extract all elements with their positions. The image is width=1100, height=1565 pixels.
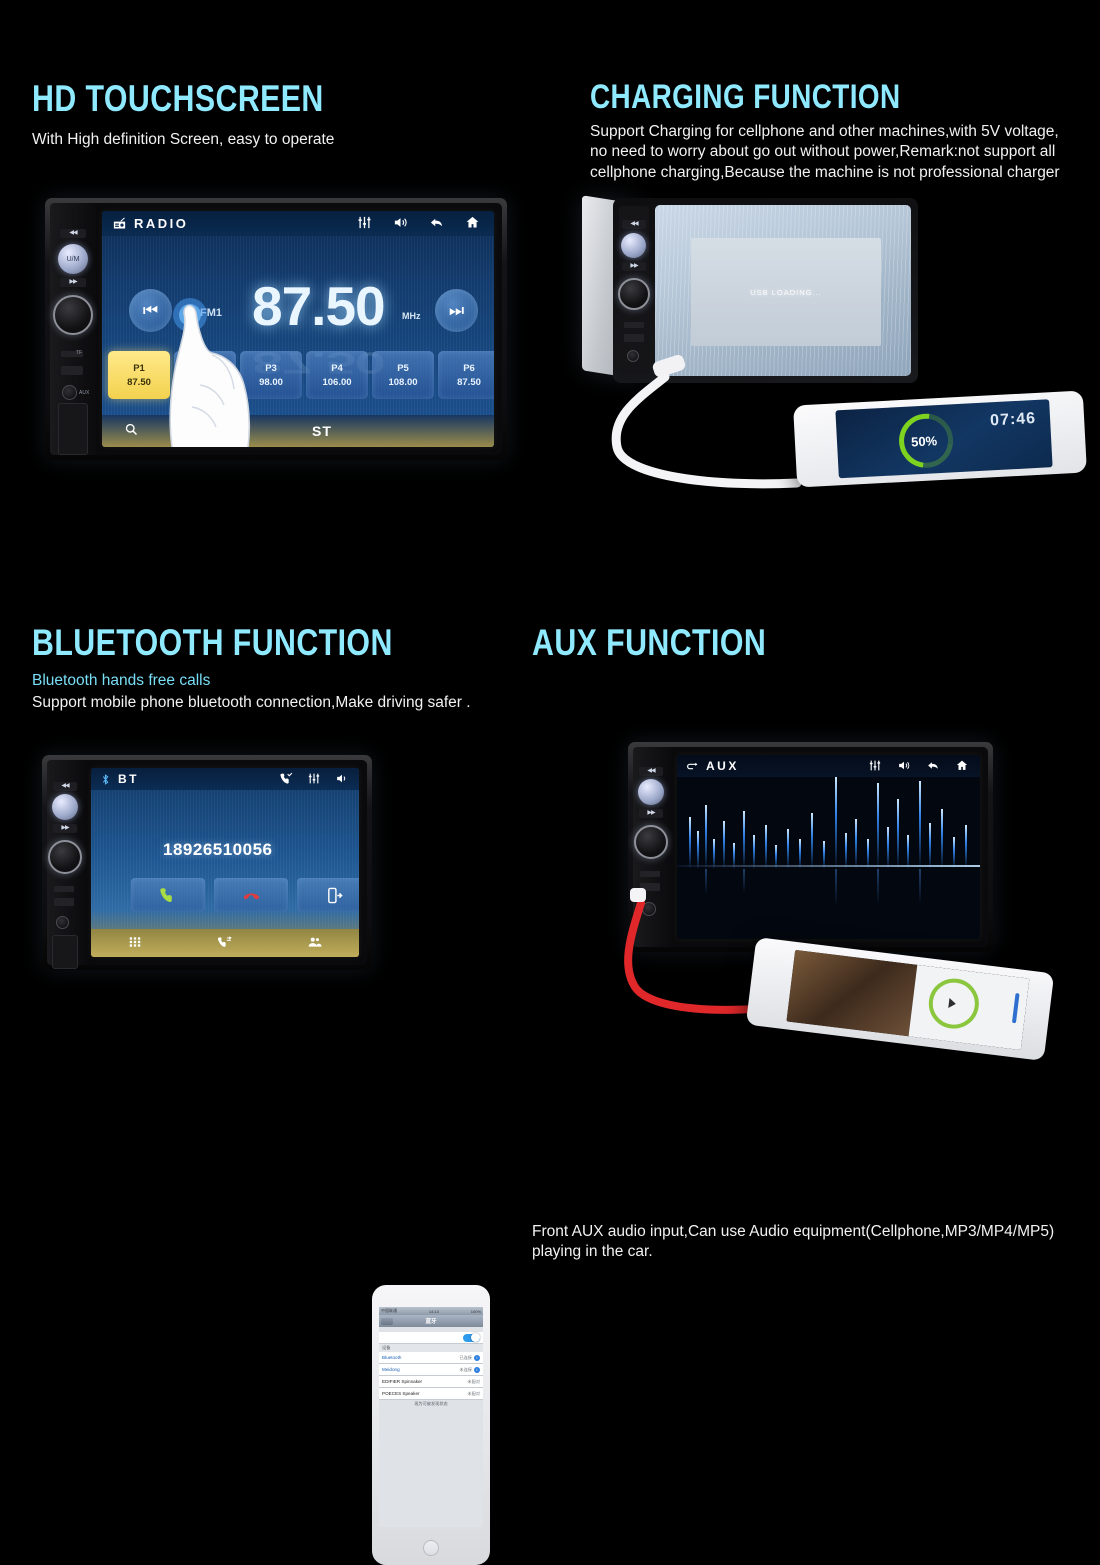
bluetooth-toggle-label: 蓝牙 xyxy=(382,1335,391,1341)
device-status-2: 未连接 xyxy=(459,1367,472,1373)
equalizer-icon[interactable] xyxy=(356,215,373,232)
device-row-3[interactable]: EDIFIER Spinnaker 未配对 xyxy=(379,1376,483,1388)
aux-topbar: AUX xyxy=(677,755,980,777)
bt-aux-jack[interactable] xyxy=(56,916,69,929)
aux-tf-slot[interactable] xyxy=(640,871,660,877)
radio-topbar: RADIO xyxy=(102,211,494,236)
body-aux-function: Front AUX audio input,Can use Audio equi… xyxy=(532,1222,1092,1263)
device-info-icon-2[interactable]: i xyxy=(474,1367,480,1373)
home-icon[interactable] xyxy=(464,215,481,232)
radio-bottom-bar: ST xyxy=(102,415,494,447)
preset-row: P1 87.50 P2 90.00 P3 98.00 xyxy=(108,351,494,399)
bt-next-button[interactable]: ▶▶ xyxy=(53,824,77,833)
panel-aux-function: AUX FUNCTION Front AUX audio input,Can u… xyxy=(520,550,1100,1100)
charging-unit-screen[interactable]: USB LOADING... xyxy=(655,205,911,376)
charging-next-button[interactable]: ▶▶ xyxy=(622,262,646,271)
bt-tf-slot[interactable] xyxy=(54,886,74,892)
heading-bluetooth-function: BLUETOOTH FUNCTION xyxy=(32,622,393,664)
usb-loading-text: USB LOADING... xyxy=(750,288,822,297)
stereo-indicator: ST xyxy=(312,423,332,439)
bluetooth-icon xyxy=(99,773,112,786)
aux-line-2: playing in the car. xyxy=(532,1242,1092,1262)
device-name-2: Meidong xyxy=(382,1367,400,1372)
aux-prev-button[interactable]: ◀◀ xyxy=(639,767,663,776)
aux-phone-screen xyxy=(786,950,1029,1050)
charging-phone: 50% 07:46 xyxy=(793,390,1087,487)
volume-icon[interactable] xyxy=(392,215,409,232)
source-label: RADIO xyxy=(134,216,188,231)
frequency-unit: MHz xyxy=(402,311,421,321)
product-feature-collage: HD TOUCHSCREEN With High definition Scre… xyxy=(0,0,1100,1100)
device-status-3: 未配对 xyxy=(467,1379,480,1385)
charging-line-3: cellphone charging,Because the machine i… xyxy=(590,163,1060,183)
panel-hd-touchscreen: HD TOUCHSCREEN With High definition Scre… xyxy=(0,0,555,550)
ios-nav-title: 蓝牙 xyxy=(425,1317,436,1325)
device-name-1: Bluetooth xyxy=(382,1355,401,1360)
player-controls xyxy=(908,965,1029,1050)
transfer-audio-button[interactable] xyxy=(297,878,359,912)
bt-equalizer-icon[interactable] xyxy=(307,772,321,787)
phone-bluetooth-settings: 中国联通 14:13 100% 蓝牙 蓝牙 设备 Bluetooth 已连接i xyxy=(372,1285,490,1565)
aux-source-label: AUX xyxy=(706,759,739,773)
call-log-icon[interactable] xyxy=(217,935,232,952)
preset-button-5[interactable]: P5 108.00 xyxy=(372,351,434,399)
battery-label: 100% xyxy=(471,1309,481,1314)
panel-bluetooth-function: BLUETOOTH FUNCTION Bluetooth hands free … xyxy=(0,550,520,1100)
ios-status-bar: 中国联通 14:13 100% xyxy=(379,1307,483,1315)
panel-charging-function: CHARGING FUNCTION Support Charging for c… xyxy=(555,0,1100,550)
bt-topbar: BT xyxy=(91,768,359,790)
ios-back-button[interactable] xyxy=(381,1318,393,1325)
bluetooth-toggle-row[interactable]: 蓝牙 xyxy=(379,1332,483,1344)
charging-aux-jack[interactable] xyxy=(627,350,639,362)
next-track-button[interactable]: ▶▶ xyxy=(60,278,86,287)
charging-prev-button[interactable]: ◀◀ xyxy=(622,220,646,229)
device-name-4: POECES Speaker xyxy=(382,1391,420,1396)
seek-up-button[interactable]: ⏭ xyxy=(435,289,478,332)
device-info-icon-1[interactable]: i xyxy=(474,1355,480,1361)
antenna-icon[interactable] xyxy=(221,422,236,440)
charging-usb-port[interactable] xyxy=(624,334,644,342)
discoverable-note: 现为可被发现状态 xyxy=(379,1400,483,1408)
usb-loading-window: USB LOADING... xyxy=(691,238,881,346)
play-icon[interactable] xyxy=(948,998,956,1009)
bt-volume-icon[interactable] xyxy=(335,772,349,787)
devices-group-label: 设备 xyxy=(379,1344,483,1352)
device-status-4: 未配对 xyxy=(467,1391,480,1397)
aux-volume-icon[interactable] xyxy=(897,759,911,774)
iphone-home-button[interactable] xyxy=(423,1540,439,1556)
heading-aux-function: AUX FUNCTION xyxy=(532,622,766,664)
side-control-column: ◀◀ U/M ▶▶ TF AUX xyxy=(50,203,96,455)
answer-call-button[interactable] xyxy=(131,878,205,912)
subtitle-hd-touchscreen: With High definition Screen, easy to ope… xyxy=(32,130,334,150)
aux-plug-head xyxy=(630,888,646,902)
subtitle-bluetooth-cyan: Bluetooth hands free calls xyxy=(32,670,210,692)
bt-volume-knob[interactable] xyxy=(48,840,82,874)
aux-equalizer-icon[interactable] xyxy=(868,759,882,774)
head-unit-charging: ◀◀ ▶▶ USB LOADING... xyxy=(613,198,918,383)
charging-unit-controls: ◀◀ ▶▶ xyxy=(619,206,649,375)
aux-next-button[interactable]: ▶▶ xyxy=(639,809,663,818)
preset-button-2[interactable]: P2 90.00 xyxy=(174,351,236,399)
aux-volume-knob[interactable] xyxy=(634,825,668,859)
search-icon[interactable] xyxy=(124,422,139,440)
aux-power-button[interactable] xyxy=(638,779,664,805)
back-icon[interactable] xyxy=(428,215,445,232)
bt-bottom-bar xyxy=(91,929,359,957)
end-call-button[interactable] xyxy=(214,878,288,912)
charging-power-button[interactable] xyxy=(621,233,646,258)
end-call-icon xyxy=(242,886,261,905)
heading-hd-touchscreen: HD TOUCHSCREEN xyxy=(32,78,324,120)
keypad-icon[interactable] xyxy=(128,935,142,952)
preset-button-4[interactable]: P4 106.00 xyxy=(306,351,368,399)
aux-icon xyxy=(685,760,700,773)
charging-line-2: no need to worry about go out without po… xyxy=(590,142,1060,162)
head-unit-radio: ◀◀ U/M ▶▶ TF AUX xyxy=(45,198,507,460)
aux-home-icon[interactable] xyxy=(955,759,969,774)
head-unit-bluetooth: ◀◀ ▶▶ B xyxy=(42,755,372,970)
radio-screen[interactable]: RADIO xyxy=(102,211,494,447)
radio-icon xyxy=(111,216,128,231)
answer-call-icon xyxy=(159,886,177,904)
tf-slot-label: TF xyxy=(76,350,82,356)
usb-port[interactable] xyxy=(61,366,83,375)
charging-volume-knob[interactable] xyxy=(618,278,650,310)
subtitle-bluetooth-white: Support mobile phone bluetooth connectio… xyxy=(32,693,471,713)
bt-screen-bezel: BT xyxy=(87,764,363,961)
aux-back-icon[interactable] xyxy=(926,759,940,774)
aux-phone xyxy=(746,937,1054,1061)
charging-phone-screen: 50% 07:46 xyxy=(835,399,1052,478)
charging-tf-slot[interactable] xyxy=(624,322,644,328)
heading-charging-function: CHARGING FUNCTION xyxy=(590,78,901,117)
preset-button-3[interactable]: P3 98.00 xyxy=(240,351,302,399)
carrier-label: 中国联通 xyxy=(381,1308,397,1314)
aux-line-1: Front AUX audio input,Can use Audio equi… xyxy=(532,1222,1092,1242)
transfer-audio-icon xyxy=(326,887,343,904)
phone-screen[interactable]: 中国联通 14:13 100% 蓝牙 蓝牙 设备 Bluetooth 已连接i xyxy=(379,1307,483,1527)
album-artwork xyxy=(786,950,917,1036)
ios-clock: 14:13 xyxy=(429,1309,439,1314)
band-label: FM1 xyxy=(200,307,222,319)
bt-source-label: BT xyxy=(118,772,139,786)
volume-knob[interactable] xyxy=(53,295,93,335)
device-row-4[interactable]: POECES Speaker 未配对 xyxy=(379,1388,483,1400)
usb-drive xyxy=(58,403,88,455)
bt-prev-button[interactable]: ◀◀ xyxy=(53,782,77,791)
incoming-phone-number: 18926510056 xyxy=(163,840,273,860)
charging-line-1: Support Charging for cellphone and other… xyxy=(590,122,1060,142)
bt-usb-drive xyxy=(52,935,78,969)
bt-usb-port[interactable] xyxy=(54,898,74,906)
bt-power-button[interactable] xyxy=(52,794,78,820)
power-mode-button[interactable]: U/M xyxy=(58,244,88,274)
preset-button-1[interactable]: P1 87.50 xyxy=(108,351,170,399)
aux-jack[interactable] xyxy=(62,385,77,400)
volume-slider[interactable] xyxy=(1012,993,1020,1023)
bluetooth-toggle-switch[interactable] xyxy=(463,1334,480,1342)
seek-down-button[interactable]: ⏮ xyxy=(129,289,172,332)
device-row-1[interactable]: Bluetooth 已连接i xyxy=(379,1352,483,1364)
screen-bezel: RADIO xyxy=(98,207,498,451)
contacts-icon[interactable] xyxy=(307,935,322,952)
device-row-2[interactable]: Meidong 未连接i xyxy=(379,1364,483,1376)
ios-nav-bar: 蓝牙 xyxy=(379,1315,483,1327)
prev-track-button[interactable]: ◀◀ xyxy=(60,229,86,238)
frequency-display: 87.50 xyxy=(252,274,385,338)
phone-connected-icon[interactable] xyxy=(279,772,293,787)
bluetooth-screen[interactable]: BT xyxy=(91,768,359,957)
body-charging-function: Support Charging for cellphone and other… xyxy=(590,122,1060,183)
preset-button-6[interactable]: P6 87.50 xyxy=(438,351,494,399)
battery-percent: 50% xyxy=(911,433,938,449)
phone-clock: 07:46 xyxy=(990,410,1037,430)
aux-jack-label: AUX xyxy=(79,390,89,396)
device-status-1: 已连接 xyxy=(459,1355,472,1361)
device-name-3: EDIFIER Spinnaker xyxy=(382,1379,422,1384)
call-button-row xyxy=(131,878,359,912)
bt-side-controls: ◀◀ ▶▶ xyxy=(47,760,85,965)
